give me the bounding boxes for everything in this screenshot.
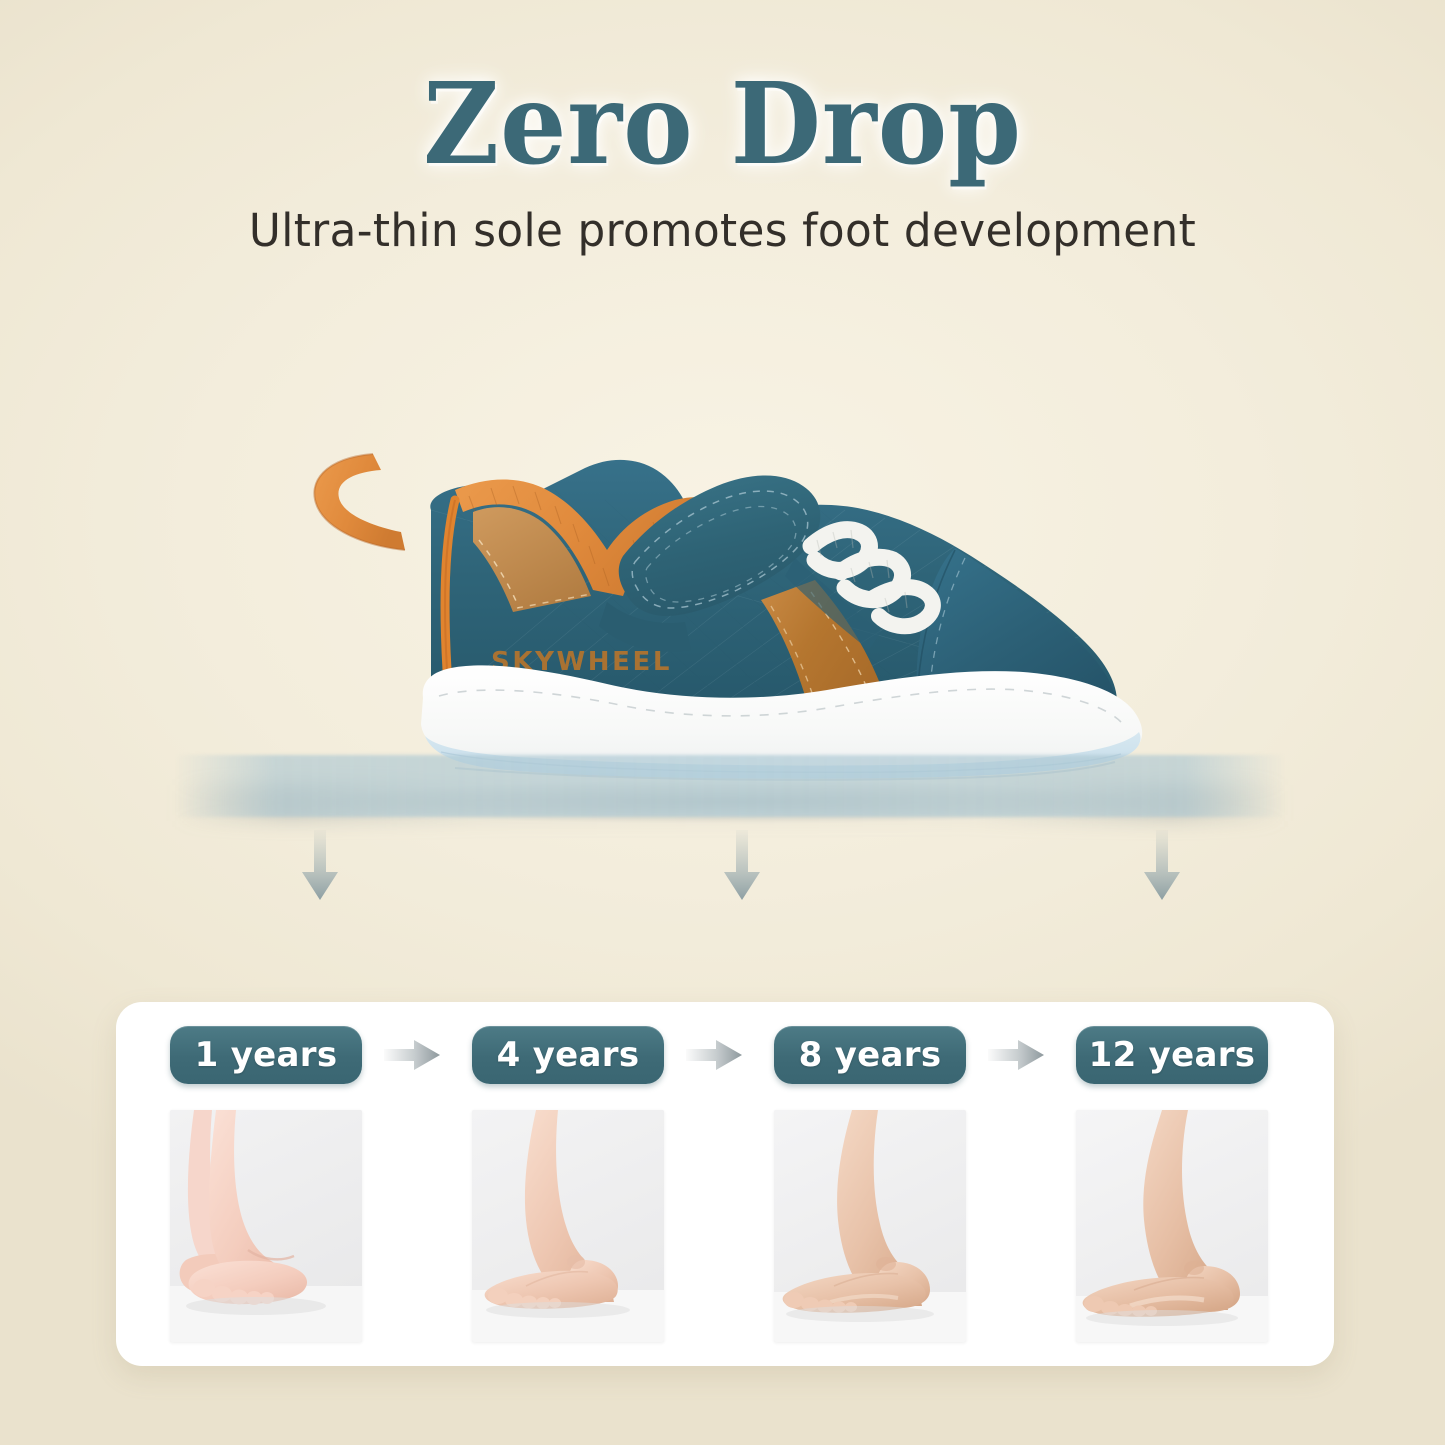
age-badge-3[interactable]: 8 years xyxy=(774,1026,966,1084)
foot-photo-3 xyxy=(774,1110,966,1342)
foot-photo-1 xyxy=(170,1110,362,1342)
timeline-step-4: 12 years xyxy=(1076,1026,1268,1342)
growth-timeline-row: 1 years xyxy=(116,1002,1334,1366)
shoe-stage: SKYWHEEL xyxy=(0,330,1445,890)
age-badge-2[interactable]: 4 years xyxy=(472,1026,664,1084)
timeline-arrow-3 xyxy=(988,1038,1044,1072)
age-badge-4[interactable]: 12 years xyxy=(1076,1026,1268,1084)
pressure-arrow-3 xyxy=(1140,830,1184,902)
age-badge-label: 8 years xyxy=(799,1035,942,1075)
timeline-step-3: 8 years xyxy=(774,1026,966,1342)
foot-photo-2 xyxy=(472,1110,664,1342)
timeline-step-2: 4 years xyxy=(472,1026,664,1342)
age-badge-label: 4 years xyxy=(497,1035,640,1075)
growth-timeline-card: 1 years xyxy=(116,1002,1334,1366)
age-badge-label: 1 years xyxy=(195,1035,338,1075)
product-feature-image: Zero Drop Ultra-thin sole promotes foot … xyxy=(0,0,1445,1445)
foot-photo-4 xyxy=(1076,1110,1268,1342)
age-badge-1[interactable]: 1 years xyxy=(170,1026,362,1084)
page-subtitle: Ultra-thin sole promotes foot developmen… xyxy=(22,204,1424,257)
pressure-arrow-1 xyxy=(298,830,342,902)
timeline-arrow-1 xyxy=(384,1038,440,1072)
pressure-arrow-2 xyxy=(720,830,764,902)
timeline-step-1: 1 years xyxy=(170,1026,362,1342)
timeline-arrow-2 xyxy=(686,1038,742,1072)
age-badge-label: 12 years xyxy=(1089,1035,1256,1075)
ground-level-band xyxy=(175,755,1285,817)
page-title: Zero Drop xyxy=(51,62,1395,187)
